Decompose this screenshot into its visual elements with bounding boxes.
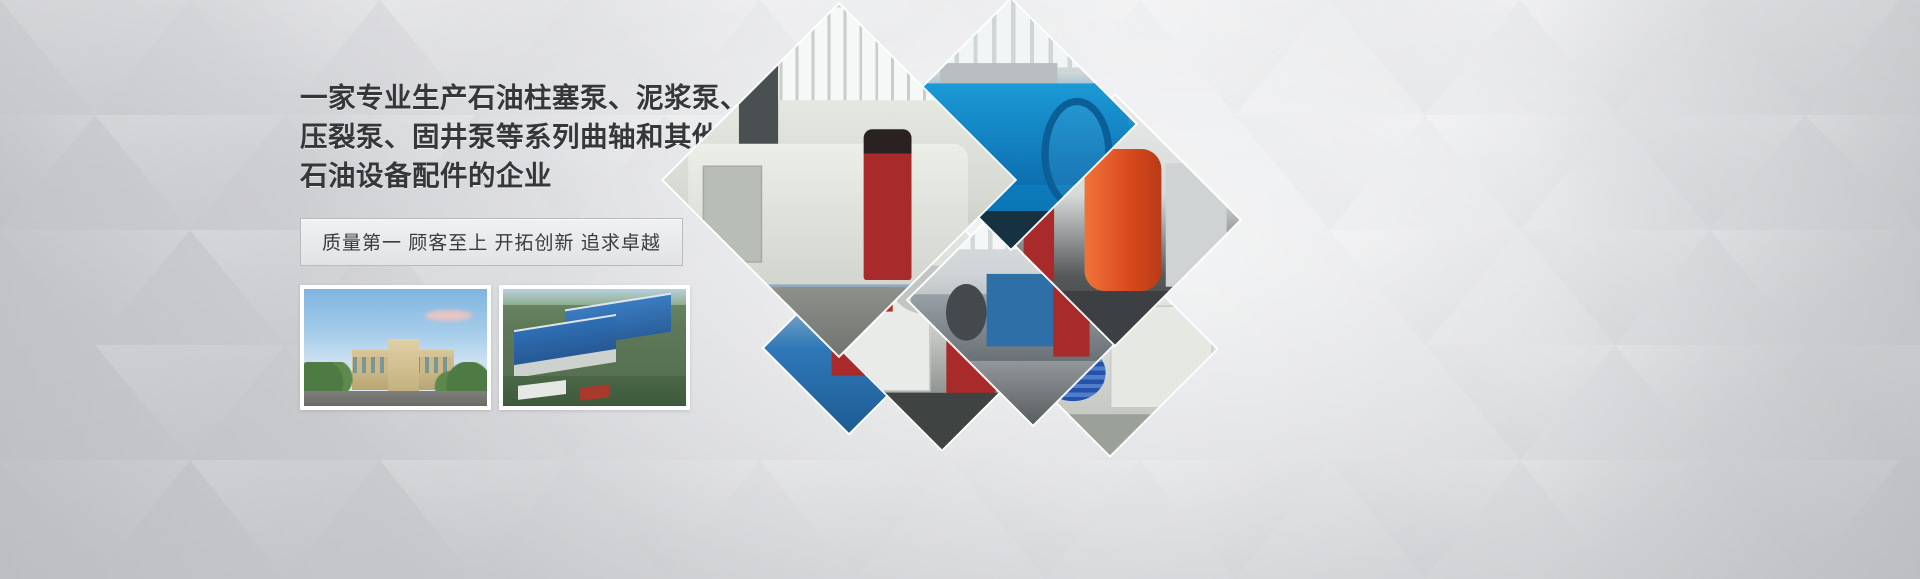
hero-banner: 一家专业生产石油柱塞泵、泥浆泵、 压裂泵、固井泵等系列曲轴和其他 石油设备配件的… — [0, 0, 1920, 579]
photo-strip — [300, 285, 720, 410]
headline-line-2: 压裂泵、固井泵等系列曲轴和其他 — [300, 117, 720, 156]
lathe-panel — [987, 274, 1064, 345]
hero-text-block: 一家专业生产石油柱塞泵、泥浆泵、 压裂泵、固井泵等系列曲轴和其他 石油设备配件的… — [300, 78, 720, 410]
ground-strip — [304, 391, 487, 406]
orange-pressure-tank — [1084, 149, 1161, 292]
diamond-photo-collage — [697, 36, 1297, 406]
factory-aerial-image — [503, 289, 686, 406]
office-building-image — [304, 289, 487, 406]
headline-line-1: 一家专业生产石油柱塞泵、泥浆泵、 — [300, 78, 720, 117]
machine-door-panel — [702, 166, 762, 262]
slogan-box: 质量第一 顾客至上 开拓创新 追求卓越 — [300, 218, 683, 266]
photo-factory-aerial[interactable] — [499, 285, 690, 410]
worker-figure — [864, 130, 911, 281]
cloud-shape — [425, 310, 473, 321]
headline-line-3: 石油设备配件的企业 — [300, 156, 720, 195]
photo-office-building[interactable] — [300, 285, 491, 410]
slogan-text: 质量第一 顾客至上 开拓创新 追求卓越 — [322, 228, 661, 255]
headline: 一家专业生产石油柱塞泵、泥浆泵、 压裂泵、固井泵等系列曲轴和其他 石油设备配件的… — [300, 78, 720, 195]
equipment-rack — [1166, 164, 1227, 286]
